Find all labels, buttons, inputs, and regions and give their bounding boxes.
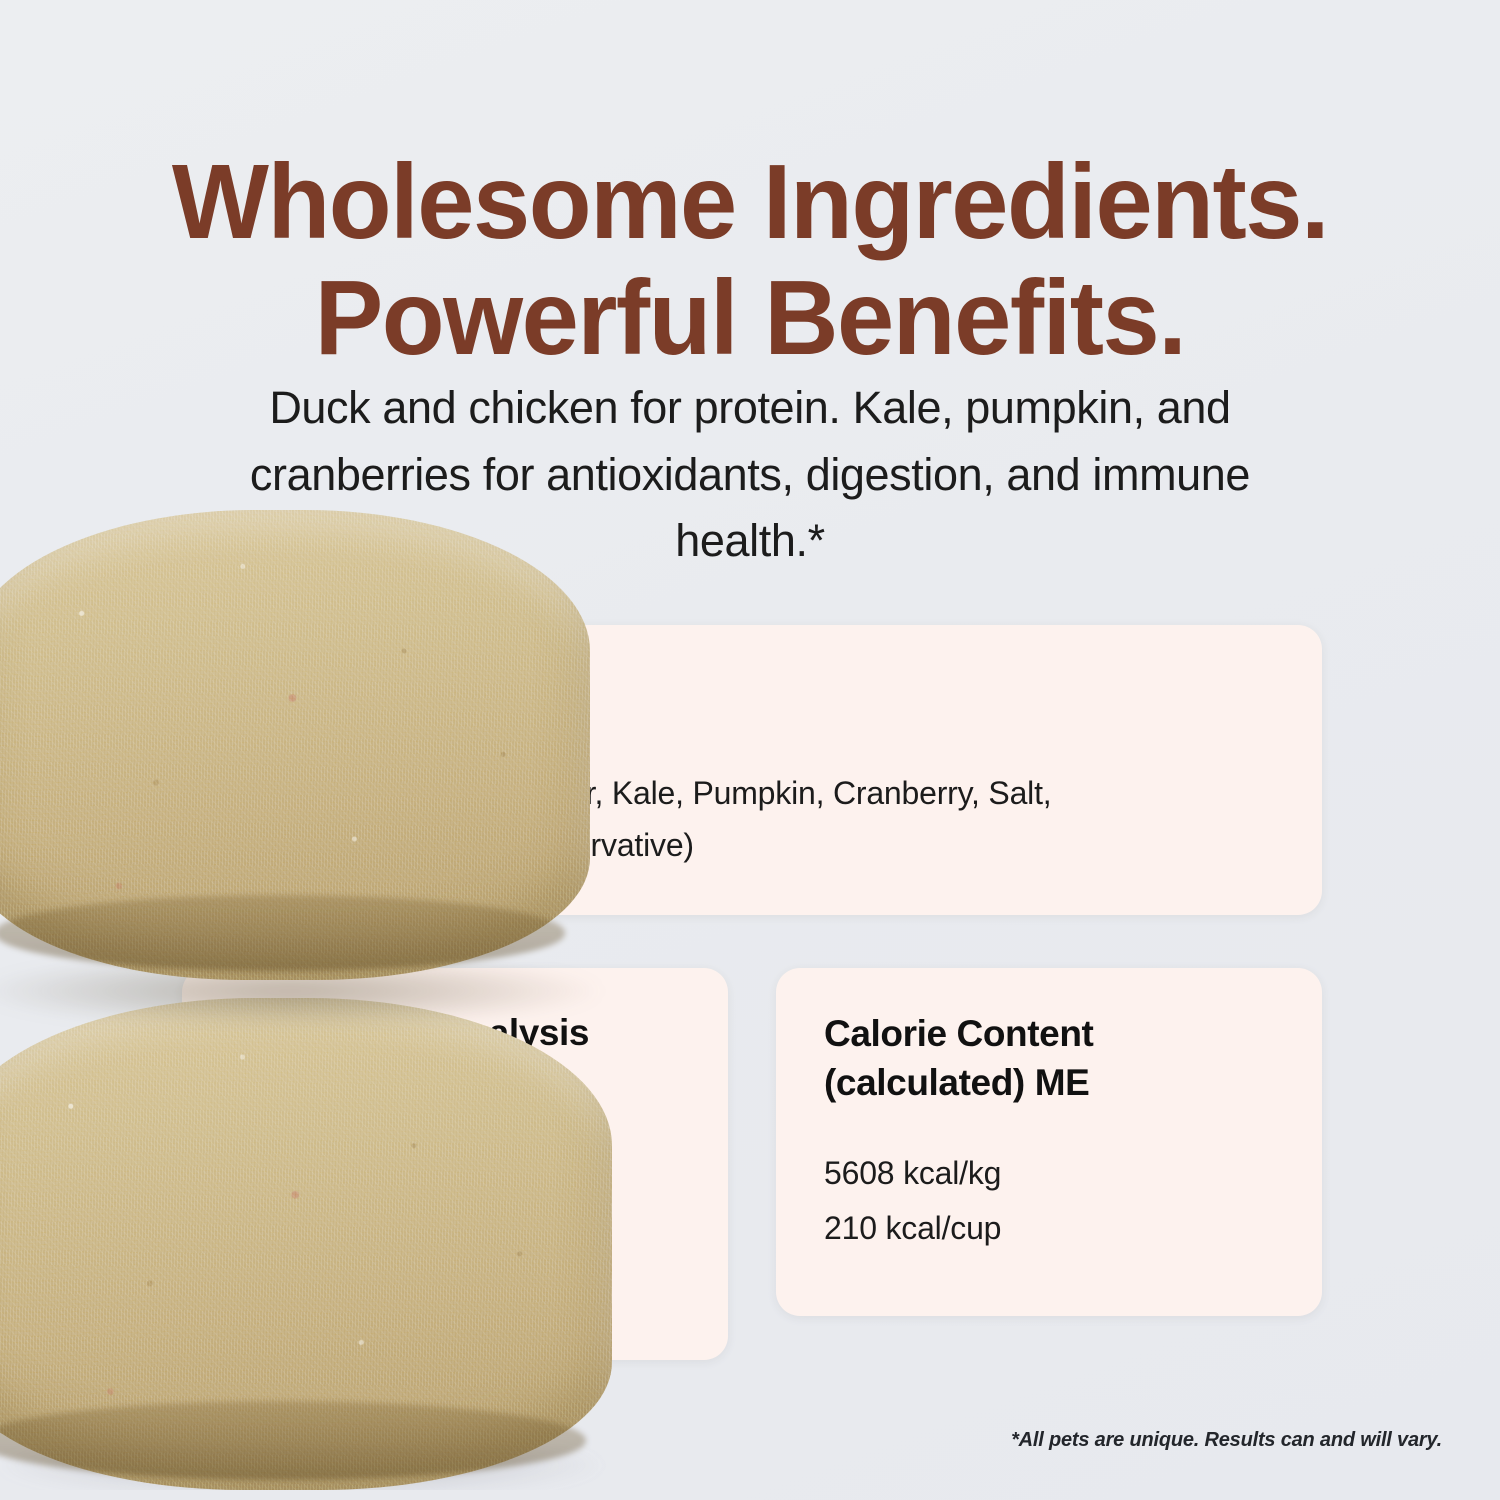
marketing-infographic: Wholesome Ingredients. Powerful Benefits… (0, 0, 1500, 1500)
guaranteed-analysis-row: Crude Fiber (max) 2% (230, 1204, 702, 1261)
guaranteed-analysis-row: Crude Fat (min) 43% (230, 1147, 702, 1204)
guaranteed-analysis-row: Moisture (max) 6% (230, 1261, 702, 1318)
calorie-content-card: Calorie Content (calculated) ME 5608 kca… (776, 968, 1322, 1316)
patty-bottom-rim (0, 1401, 586, 1480)
page-title-line-2: Powerful Benefits. (23, 265, 1478, 371)
guaranteed-analysis-card: Guaranteed Analysis Crude Protein (min) … (182, 968, 728, 1360)
ingredients-line: Mixed Tocopherols (Preservative) (226, 819, 1282, 871)
page-subtitle: Duck and chicken for protein. Kale, pump… (170, 375, 1330, 575)
calorie-content-body: 5608 kcal/kg 210 kcal/cup (824, 1146, 1296, 1256)
guaranteed-analysis-title: Guaranteed Analysis (230, 1012, 589, 1054)
disclaimer-footnote: *All pets are unique. Results can and wi… (1011, 1429, 1442, 1452)
guaranteed-analysis-row: Crude Protein (min) 37% (230, 1090, 702, 1147)
calorie-content-title-line-1: Calorie Content (824, 1013, 1093, 1054)
ingredients-card: Ingredients: Duck, Chicken, Duck Liver, … (182, 625, 1322, 915)
ingredients-card-body: Duck, Chicken, Duck Liver, Kale, Pumpkin… (226, 767, 1282, 871)
page-title-line-1: Wholesome Ingredients. (172, 143, 1328, 261)
calorie-content-title-line-2: (calculated) ME (824, 1062, 1089, 1103)
calorie-content-title: Calorie Content (calculated) ME (824, 1010, 1292, 1108)
guaranteed-analysis-body: Crude Protein (min) 37% Crude Fat (min) … (230, 1090, 702, 1318)
ingredients-line: Duck, Chicken, Duck Liver, Kale, Pumpkin… (226, 767, 1282, 819)
calorie-content-row: 5608 kcal/kg (824, 1146, 1296, 1201)
photo-ground-shadow (0, 1442, 610, 1490)
ingredients-card-title: Ingredients: (226, 681, 439, 724)
calorie-content-row: 210 kcal/cup (824, 1201, 1296, 1256)
page-title: Wholesome Ingredients. Powerful Benefits… (23, 149, 1478, 371)
